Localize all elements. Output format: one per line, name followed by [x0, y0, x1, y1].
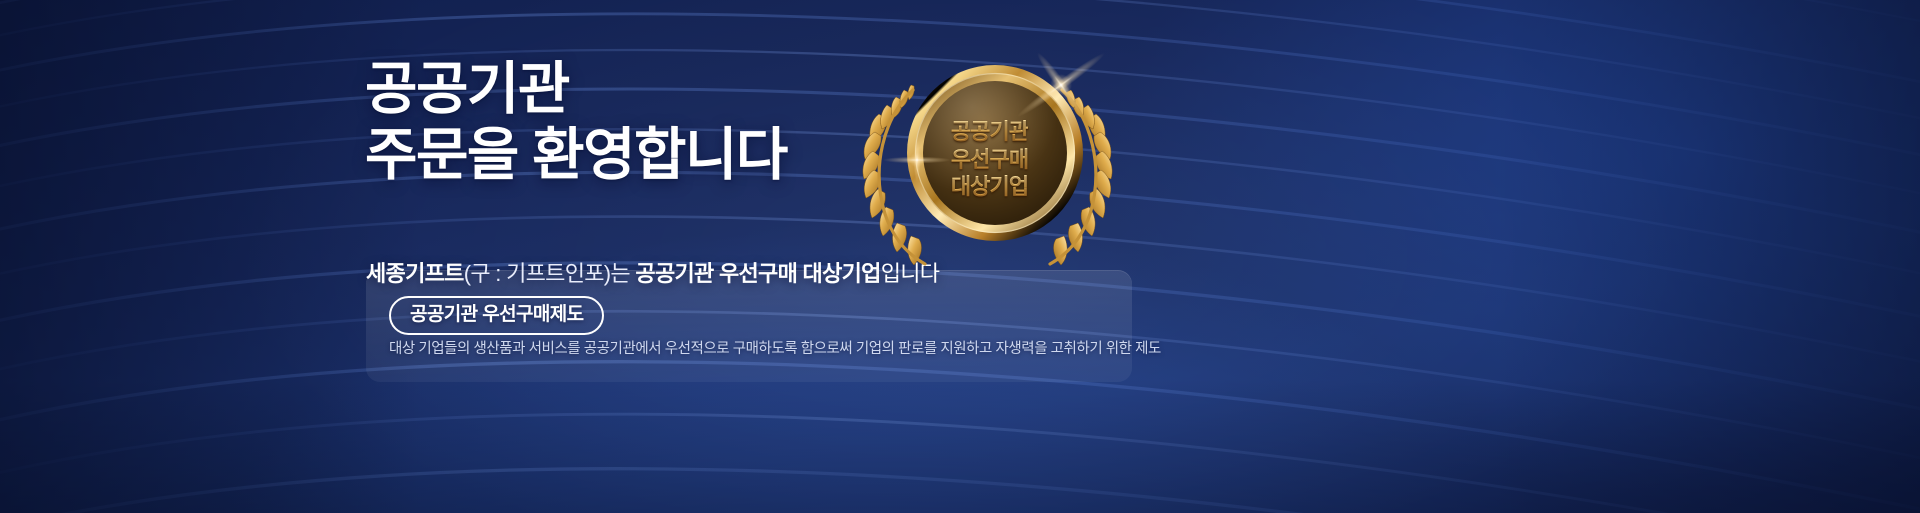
- headline-line-2: 주문을 환영합니다: [365, 122, 787, 188]
- headline-line-1: 공공기관: [365, 57, 569, 121]
- page-title: 공공기관 주문을 환영합니다: [365, 56, 787, 188]
- subtitle-alias: (구 : 기프트인포)는: [464, 261, 630, 286]
- gold-medal-icon: 공공기관 우선구매 대상기업: [855, 52, 1120, 267]
- subtitle: 세종기프트(구 : 기프트인포)는 공공기관 우선구매 대상기업입니다: [366, 261, 939, 287]
- subtitle-emphasis: 공공기관 우선구매 대상기업: [635, 261, 880, 286]
- promo-banner: 공공기관 주문을 환영합니다 세종기프트(구 : 기프트인포)는 공공기관 우선…: [0, 0, 1920, 513]
- policy-description: 대상 기업들의 생산품과 서비스를 공공기관에서 우선적으로 구매하도록 함으로…: [389, 339, 1129, 361]
- subtitle-brand: 세종기프트: [366, 261, 464, 286]
- policy-badge: 공공기관 우선구매제도: [389, 296, 604, 335]
